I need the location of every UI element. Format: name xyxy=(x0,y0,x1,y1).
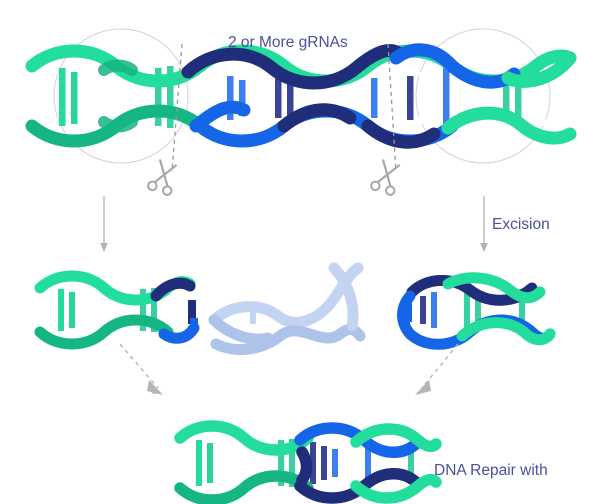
dashed-arrow-icon xyxy=(415,344,458,395)
dna-fragment-excised xyxy=(214,268,360,350)
label-nhej-line-1: DNA Repair with xyxy=(434,462,570,481)
full-dna-double-helix xyxy=(32,50,570,142)
scissors-icon[interactable] xyxy=(147,159,179,196)
label-excision: Excision xyxy=(492,216,550,235)
label-two-or-more-grnas: 2 or More gRNAs xyxy=(228,34,348,53)
dna-fragment-right xyxy=(402,278,550,345)
arrow-down-icon xyxy=(100,196,108,252)
dna-fragment-left xyxy=(40,276,198,344)
arrow-down-icon xyxy=(480,196,488,252)
scissors-icon[interactable] xyxy=(370,159,402,196)
label-dna-repair-nhej: DNA Repair with Non-Homologous End Joini… xyxy=(434,424,570,504)
diagram-canvas: 2 or More gRNAs Excision DNA Repair with… xyxy=(0,0,600,504)
dna-repaired-helix xyxy=(180,426,436,500)
dashed-arrow-icon xyxy=(120,344,163,395)
